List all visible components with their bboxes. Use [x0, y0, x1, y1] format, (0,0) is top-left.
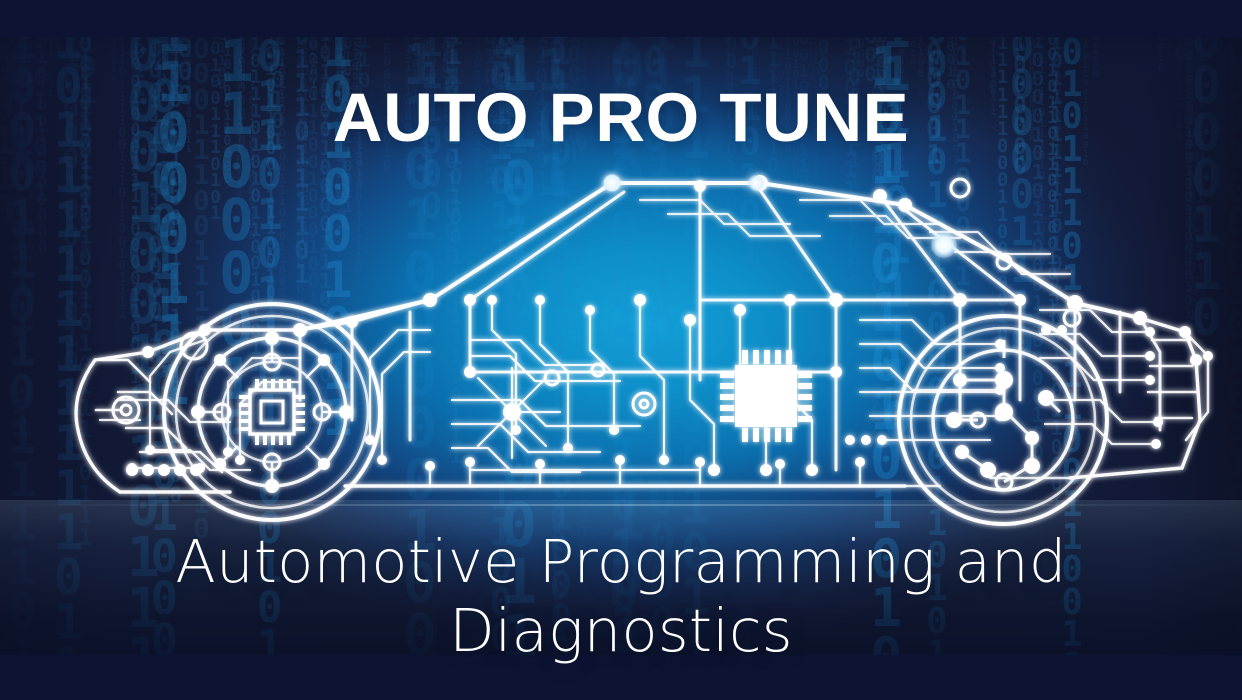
top-navy-bar [0, 0, 1242, 37]
auto-pro-tune-banner: 0 0 0 0 1 0 1 0 0 0 1 0 1 1 1 0 1 0 1 0 … [0, 0, 1242, 700]
page-subtitle: Automotive Programming and Diagnostics [0, 527, 1242, 665]
front-wheel-microchip [239, 379, 305, 445]
page-title: AUTO PRO TUNE [0, 78, 1242, 157]
roofline-glow-node [931, 232, 957, 258]
center-microchip [720, 350, 812, 442]
